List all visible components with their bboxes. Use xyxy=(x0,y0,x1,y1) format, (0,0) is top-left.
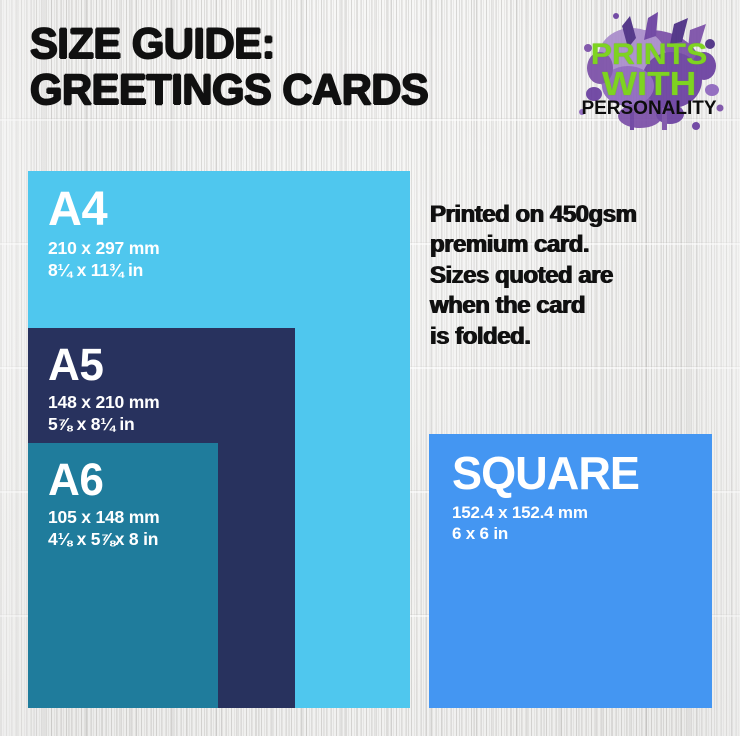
page-title: SIZE GUIDE: GREETINGS CARDS xyxy=(30,22,534,113)
size-guide-poster: SIZE GUIDE: GREETINGS CARDS xyxy=(0,0,740,736)
size-card-square-inches: 6 x 6 in xyxy=(452,523,704,544)
logo-line-with: WITH xyxy=(602,69,696,98)
size-card-a6-dimensions: 105 x 148 mm 4⅛ x 5⅞x 8 in xyxy=(48,506,210,550)
size-card-a5-inches: 5⅞ x 8¼ in xyxy=(48,413,287,435)
size-card-square-mm: 152.4 x 152.4 mm xyxy=(452,502,704,523)
size-card-square-content: SQUARE 152.4 x 152.4 mm 6 x 6 in xyxy=(452,452,704,545)
size-card-a6-title: A6 xyxy=(48,459,207,502)
logo-line-personality: PERSONALITY xyxy=(581,101,716,118)
size-card-a5-title: A5 xyxy=(48,344,282,387)
size-card-a4-dimensions: 210 x 297 mm 8¼ x 11¾ in xyxy=(48,237,402,281)
brand-logo: PRINTS WITH PERSONALITY xyxy=(570,8,728,136)
size-card-a4-title: A4 xyxy=(48,187,395,233)
size-card-a6-mm: 105 x 148 mm xyxy=(48,506,210,528)
size-card-a5-mm: 148 x 210 mm xyxy=(48,391,287,413)
size-card-a4-inches: 8¼ x 11¾ in xyxy=(48,259,402,281)
size-card-a4-content: A4 210 x 297 mm 8¼ x 11¾ in xyxy=(48,187,402,281)
size-card-a5-dimensions: 148 x 210 mm 5⅞ x 8¼ in xyxy=(48,391,287,435)
logo-wordmark: PRINTS WITH PERSONALITY xyxy=(570,8,728,136)
size-card-a6-inches: 4⅛ x 5⅞x 8 in xyxy=(48,528,210,550)
size-card-a4-mm: 210 x 297 mm xyxy=(48,237,402,259)
size-card-square: SQUARE 152.4 x 152.4 mm 6 x 6 in xyxy=(429,434,712,708)
size-card-a6-content: A6 105 x 148 mm 4⅛ x 5⅞x 8 in xyxy=(48,459,210,550)
print-specification-note: Printed on 450gsm premium card. Sizes qu… xyxy=(430,200,714,352)
size-card-a5-content: A5 148 x 210 mm 5⅞ x 8¼ in xyxy=(48,344,287,435)
size-card-square-title: SQUARE xyxy=(452,452,699,496)
size-card-a6: A6 105 x 148 mm 4⅛ x 5⅞x 8 in xyxy=(28,443,218,708)
size-card-square-dimensions: 152.4 x 152.4 mm 6 x 6 in xyxy=(452,502,704,545)
